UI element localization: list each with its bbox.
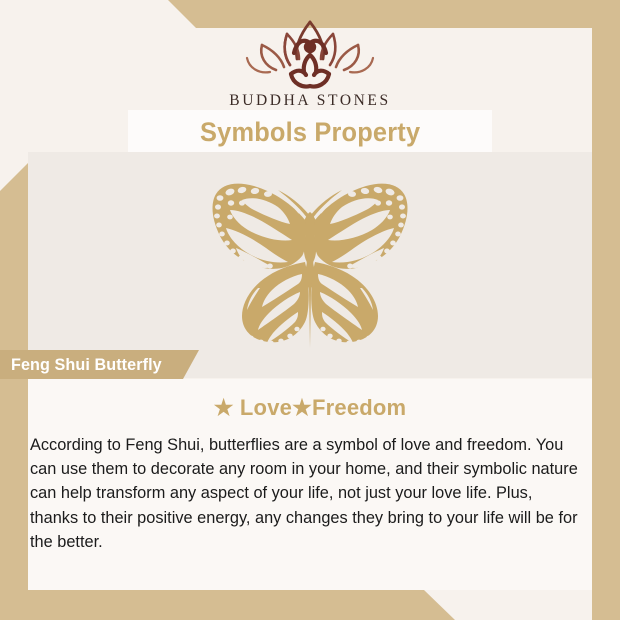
description-section: ★ Love★Freedom According to Feng Shui, b… xyxy=(28,379,592,590)
feng-shui-butterfly-tab: Feng Shui Butterfly xyxy=(0,350,199,379)
title-banner: Symbols Property xyxy=(128,110,492,154)
gold-frame-bottom xyxy=(0,590,620,620)
gold-frame-right xyxy=(592,0,620,620)
subtitle-love-freedom: ★ Love★Freedom xyxy=(28,379,592,421)
brand-logo: BUDDHA STONES xyxy=(28,12,592,110)
feng-shui-butterfly-label: Feng Shui Butterfly xyxy=(11,355,162,375)
description-paragraph: According to Feng Shui, butterflies are … xyxy=(28,421,584,554)
brand-name: BUDDHA STONES xyxy=(229,92,390,110)
infographic-card: BUDDHA STONES Symbols Property xyxy=(0,0,620,620)
page-title: Symbols Property xyxy=(200,117,420,148)
lotus-meditation-icon xyxy=(235,12,385,90)
butterfly-icon xyxy=(174,170,446,360)
hero-image-panel xyxy=(28,152,592,378)
gold-frame-left xyxy=(0,163,28,620)
